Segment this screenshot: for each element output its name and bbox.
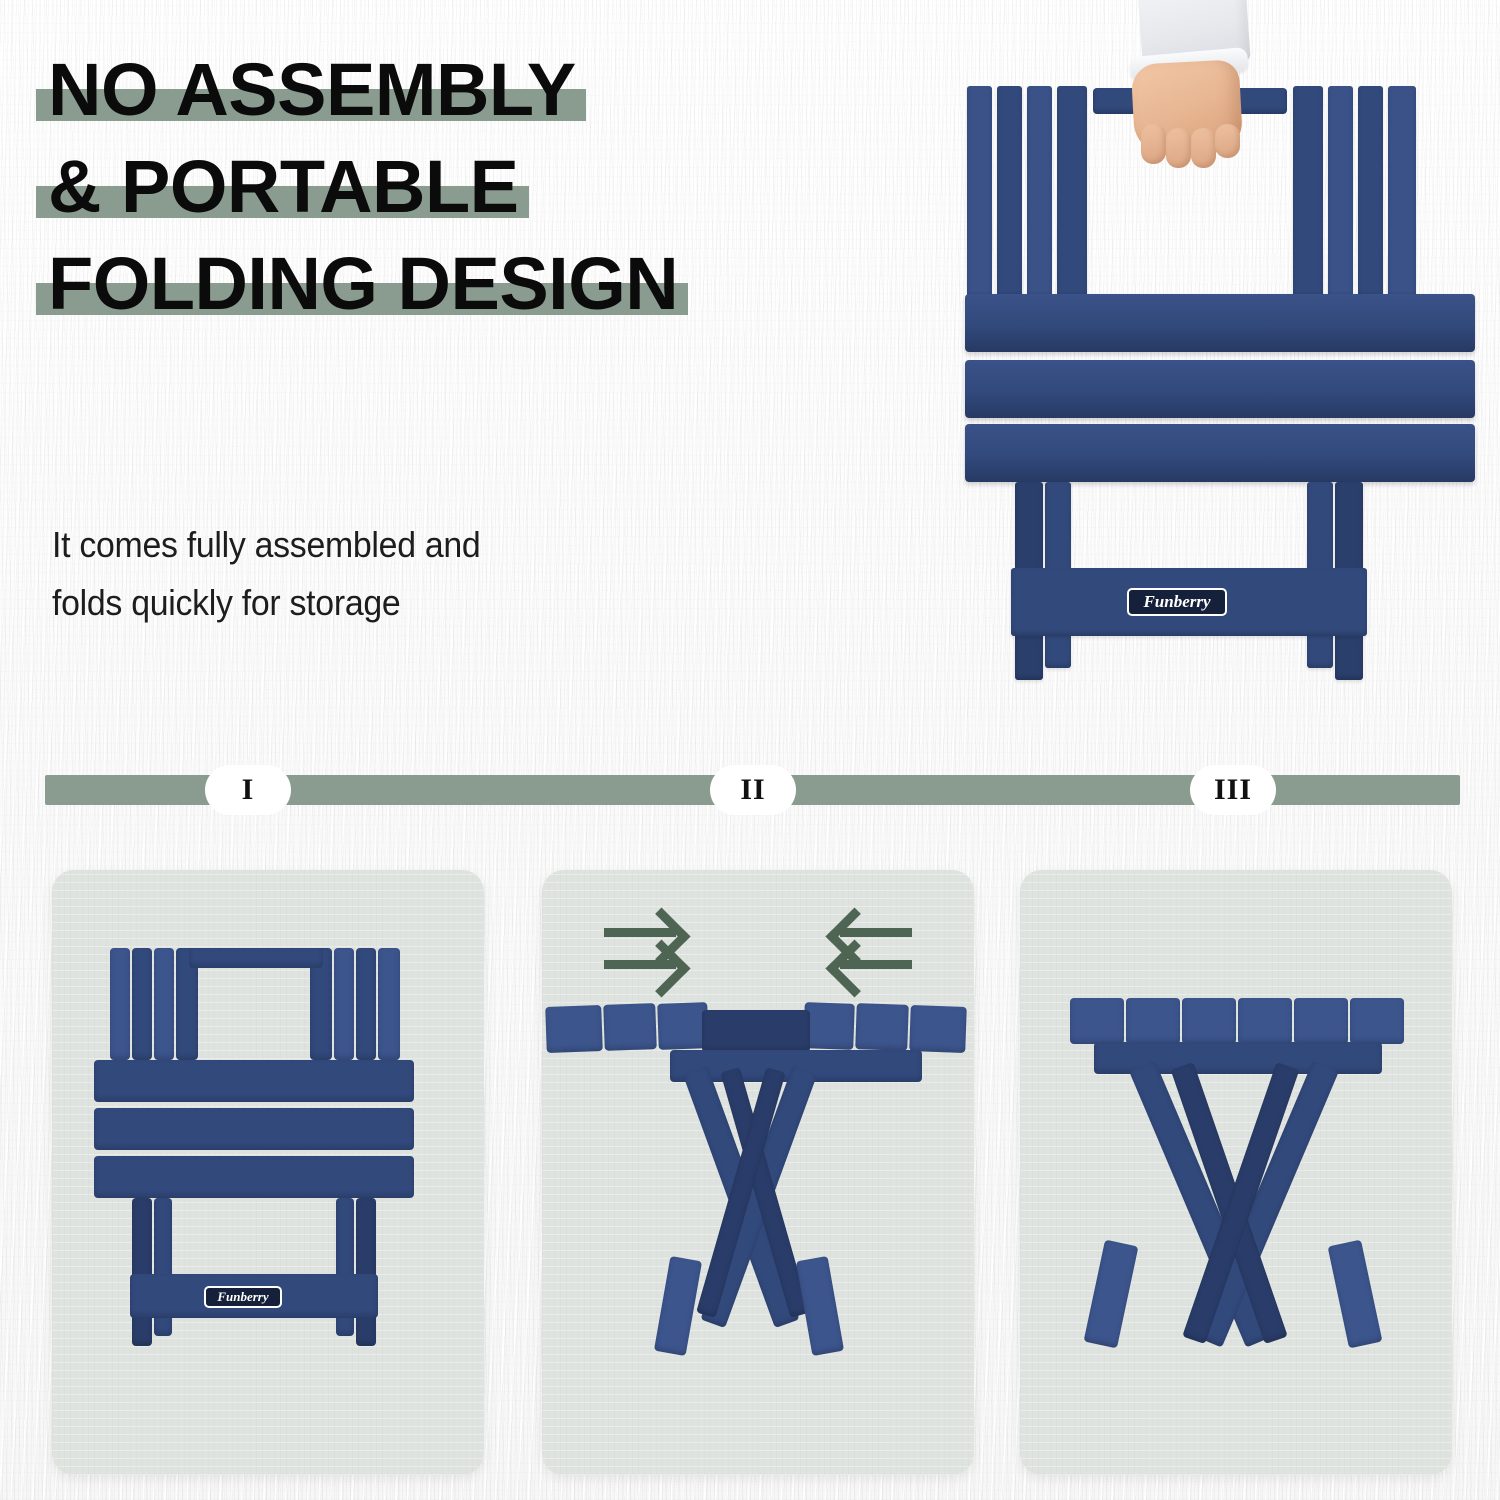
p1-back-slat-6 xyxy=(334,948,354,1060)
p2-top-slat-1 xyxy=(545,1005,603,1053)
hero-plank-1 xyxy=(965,294,1475,352)
finger-4 xyxy=(1215,124,1240,158)
hero-back-slat-3 xyxy=(1027,86,1052,298)
p1-plank-2 xyxy=(94,1108,414,1150)
arrow-right-icon-2 xyxy=(604,960,676,969)
p1-back-slat-3 xyxy=(154,948,174,1060)
p1-plank-3 xyxy=(94,1156,414,1198)
arrow-right-icon-1 xyxy=(604,928,676,937)
p3-top-slat-1 xyxy=(1070,998,1124,1044)
p1-back-slat-2 xyxy=(132,948,152,1060)
hero-back-slat-8 xyxy=(1388,86,1416,298)
p1-leg-1 xyxy=(132,1198,152,1346)
infographic-page: NO ASSEMBLY & PORTABLE FOLDING DESIGN It… xyxy=(0,0,1500,1500)
p2-center-gap xyxy=(702,1010,810,1052)
p3-top-slat-4 xyxy=(1238,998,1292,1044)
headline-text-1: NO ASSEMBLY xyxy=(48,48,576,131)
p3-top-slat-5 xyxy=(1294,998,1348,1044)
p2-top-slat-2 xyxy=(603,1003,657,1051)
p1-carry-handle xyxy=(189,948,323,968)
headline-line-1: NO ASSEMBLY xyxy=(48,54,576,125)
brand-badge-hero: Funberry xyxy=(1127,588,1227,616)
p1-leg-4 xyxy=(356,1198,376,1346)
headline-text-3: FOLDING DESIGN xyxy=(48,242,678,325)
finger-2 xyxy=(1166,128,1191,168)
steps-panel-row: Funberry xyxy=(52,870,1464,1475)
step-badge-1[interactable]: I xyxy=(205,765,291,815)
headline-block: NO ASSEMBLY & PORTABLE FOLDING DESIGN xyxy=(48,54,948,345)
p3-top-slat-3 xyxy=(1182,998,1236,1044)
panel-step-2 xyxy=(542,870,974,1475)
headline-line-3: FOLDING DESIGN xyxy=(48,248,678,319)
panel-3-texture xyxy=(1020,870,1452,1475)
subtitle-block: It comes fully assembled and folds quick… xyxy=(52,516,692,633)
panel-step-3 xyxy=(1020,870,1452,1475)
hero-plank-2 xyxy=(965,360,1475,418)
subtitle-line-1: It comes fully assembled and xyxy=(52,516,654,574)
p1-plank-1 xyxy=(94,1060,414,1102)
p2-top-slat-4 xyxy=(803,1002,855,1050)
finger-1 xyxy=(1141,124,1166,164)
arrow-left-icon-2 xyxy=(840,960,912,969)
subtitle-line-2: folds quickly for storage xyxy=(52,574,654,632)
hero-back-slat-7 xyxy=(1358,86,1383,298)
p1-back-slat-7 xyxy=(356,948,376,1060)
p3-top-slat-6 xyxy=(1350,998,1404,1044)
panel-step-1: Funberry xyxy=(52,870,484,1475)
p1-back-slat-1 xyxy=(110,948,130,1060)
step-badge-3[interactable]: III xyxy=(1190,765,1276,815)
brand-badge-panel-1: Funberry xyxy=(204,1286,282,1308)
hero-back-slat-6 xyxy=(1328,86,1353,298)
arrow-left-icon-1 xyxy=(840,928,912,937)
hero-plank-3 xyxy=(965,424,1475,482)
hero-back-slat-4 xyxy=(1057,86,1087,298)
p1-back-slat-8 xyxy=(378,948,400,1060)
hero-back-slat-5 xyxy=(1293,86,1323,298)
step-indicator-bar: I II III xyxy=(45,775,1460,805)
headline-text-2: & PORTABLE xyxy=(48,145,519,228)
hero-back-slat-1 xyxy=(967,86,992,298)
p2-top-slat-6 xyxy=(909,1005,967,1053)
headline-line-2: & PORTABLE xyxy=(48,151,519,222)
p2-top-slat-5 xyxy=(855,1003,909,1051)
hero-back-slat-2 xyxy=(997,86,1022,298)
step-badge-2[interactable]: II xyxy=(710,765,796,815)
hero-product-photo: Funberry xyxy=(945,0,1500,720)
p3-top-slat-2 xyxy=(1126,998,1180,1044)
finger-3 xyxy=(1191,128,1216,168)
